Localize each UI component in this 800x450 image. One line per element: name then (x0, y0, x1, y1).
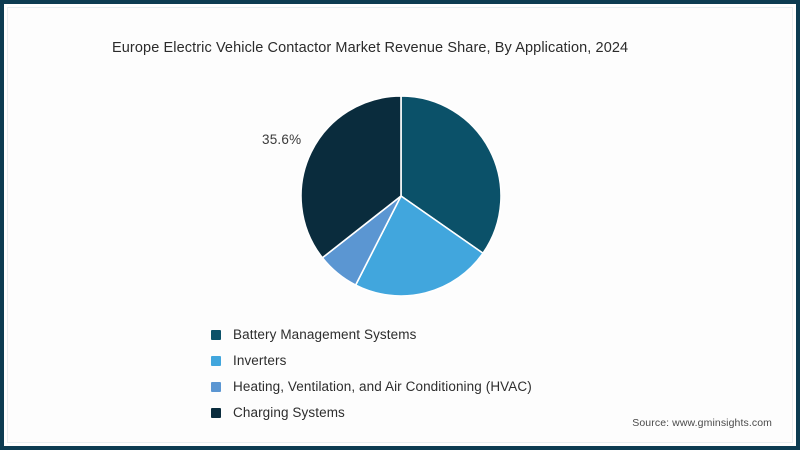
pie-svg (300, 95, 502, 297)
source-note: Source: www.gminsights.com (632, 417, 772, 429)
legend-item-label: Battery Management Systems (233, 327, 416, 343)
chart-card: Europe Electric Vehicle Contactor Market… (0, 0, 800, 450)
legend-item-inverters[interactable]: Inverters (211, 348, 681, 374)
legend-swatch-icon (211, 382, 221, 392)
pie-data-label-charging-systems: 35.6% (262, 132, 301, 147)
legend-item-label: Heating, Ventilation, and Air Conditioni… (233, 379, 532, 395)
pie-slice-group (301, 96, 501, 296)
legend-item-charging-systems[interactable]: Charging Systems (211, 400, 681, 426)
legend-item-label: Inverters (233, 353, 286, 369)
legend-item-label: Charging Systems (233, 405, 345, 421)
legend-swatch-icon (211, 330, 221, 340)
legend-item-battery-management-systems[interactable]: Battery Management Systems (211, 322, 681, 348)
legend-swatch-icon (211, 356, 221, 366)
legend: Battery Management Systems Inverters Hea… (211, 322, 681, 426)
legend-swatch-icon (211, 408, 221, 418)
pie-chart (300, 95, 502, 297)
legend-item-hvac[interactable]: Heating, Ventilation, and Air Conditioni… (211, 374, 681, 400)
